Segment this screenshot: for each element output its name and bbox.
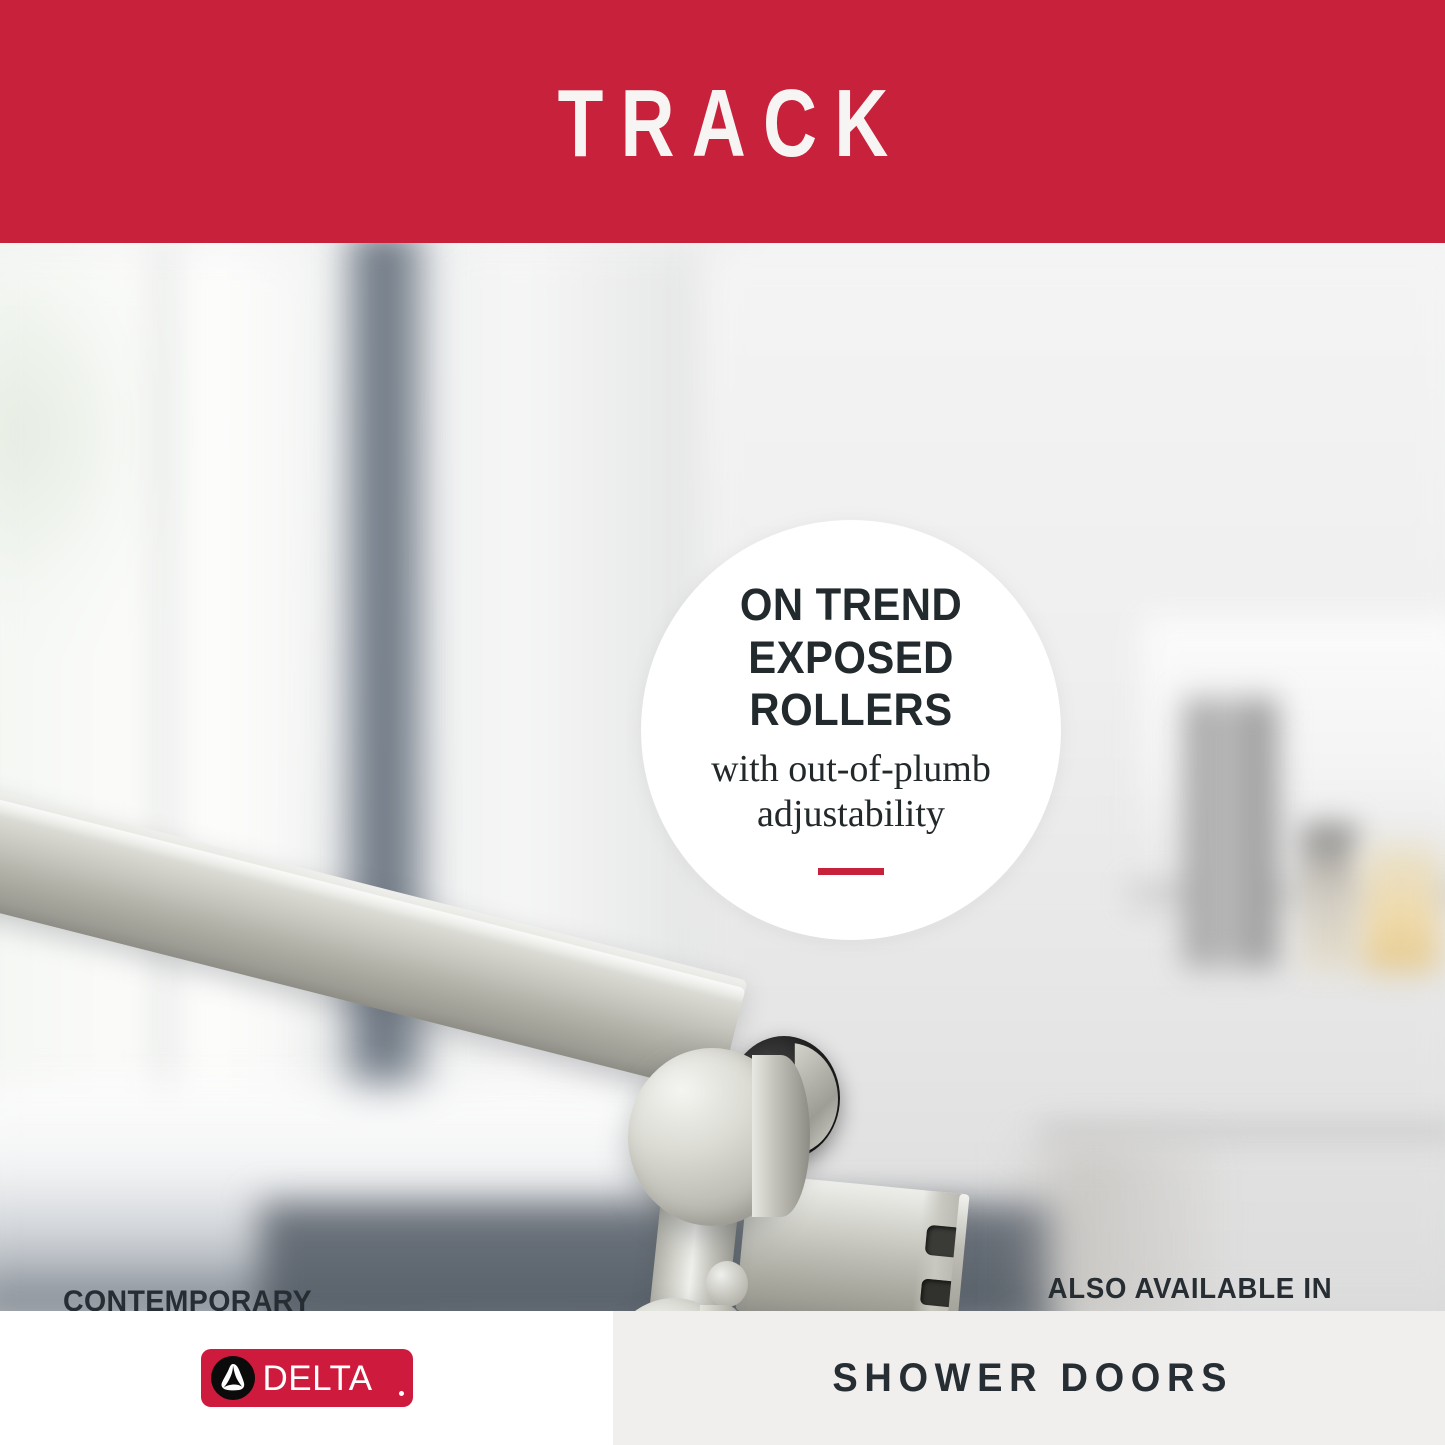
background-bottle-left bbox=[1300, 823, 1358, 973]
feature-callout-badge: ON TREND EXPOSED ROLLERS with out-of-plu… bbox=[641, 520, 1061, 940]
product-marketing-card: TRACK bbox=[0, 0, 1445, 1445]
callout-headline: ON TREND EXPOSED ROLLERS bbox=[656, 579, 1047, 737]
footer-logo-area: DELTA bbox=[0, 1311, 613, 1445]
registered-mark-icon bbox=[399, 1391, 404, 1396]
product-photo: ON TREND EXPOSED ROLLERS with out-of-plu… bbox=[0, 243, 1445, 1311]
page-title: TRACK bbox=[540, 76, 905, 172]
delta-wordmark: DELTA bbox=[263, 1361, 373, 1396]
product-caption-line1: CONTEMPORARY bbox=[47, 1283, 327, 1311]
footer: DELTA SHOWER DOORS bbox=[0, 1311, 1445, 1445]
background-canister bbox=[1185, 698, 1277, 968]
footer-category-label: SHOWER DOORS bbox=[825, 1356, 1232, 1401]
finish-options-title: ALSO AVAILABLE IN bbox=[986, 1273, 1395, 1306]
finish-options: ALSO AVAILABLE IN CHROME BRONZE bbox=[975, 1273, 1405, 1311]
delta-logo[interactable]: DELTA bbox=[201, 1349, 413, 1407]
background-floor bbox=[260, 1203, 1060, 1311]
background-window-mullion bbox=[152, 243, 178, 1143]
delta-triangle-icon bbox=[211, 1356, 255, 1400]
callout-subtext-line1: with out-of-plumb bbox=[711, 747, 991, 793]
callout-headline-line2: EXPOSED ROLLERS bbox=[656, 632, 1047, 737]
product-caption: CONTEMPORARY TRACK IN BRUSHED NICKEL bbox=[47, 1283, 327, 1311]
footer-category-area: SHOWER DOORS bbox=[613, 1311, 1445, 1445]
callout-subtext-line2: adjustability bbox=[711, 792, 991, 838]
callout-headline-line1: ON TREND bbox=[656, 579, 1047, 632]
header-banner: TRACK bbox=[0, 0, 1445, 243]
callout-subtext: with out-of-plumb adjustability bbox=[711, 747, 991, 838]
callout-divider-rule bbox=[818, 868, 884, 875]
background-bottle-right bbox=[1362, 843, 1440, 973]
